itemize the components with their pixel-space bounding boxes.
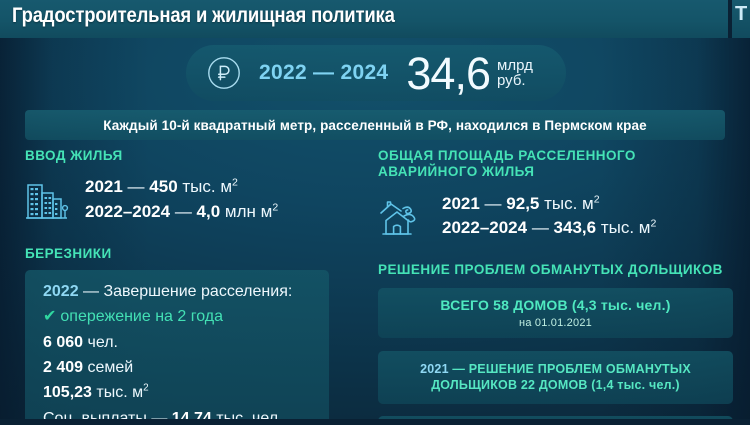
resettled-row-2022-2024: 2022–2024 — 343,6 тыс. м2 bbox=[442, 216, 656, 240]
resettled-row-2022-2024-sup: 2 bbox=[650, 217, 656, 229]
berezniki-stat-area: 105,23 тыс. м2 bbox=[43, 380, 329, 405]
budget-highlight-pill: 2022 — 2024 34,6 млрд руб. bbox=[186, 45, 566, 101]
defrauded-2021-box: 2021 — РЕШЕНИЕ ПРОБЛЕМ ОБМАНУТЫХ ДОЛЬЩИК… bbox=[378, 351, 733, 405]
berezniki-stat-area-value: 105,23 bbox=[43, 384, 92, 401]
city-buildings-icon bbox=[25, 179, 71, 221]
housing-row-2022-2024-sup: 2 bbox=[272, 201, 278, 213]
housing-row-2022-2024-year: 2022–2024 bbox=[85, 202, 170, 221]
resettled-row-2021: 2021 — 92,5 тыс. м2 bbox=[442, 192, 656, 216]
housing-row-2022-2024-dash: — bbox=[170, 202, 196, 221]
adjacent-panel-letter: Т bbox=[735, 3, 747, 26]
housing-row-2021-dash: — bbox=[123, 177, 149, 196]
housing-row-2021-year: 2021 bbox=[85, 177, 123, 196]
berezniki-completion-text: — Завершение расселения: bbox=[79, 283, 293, 300]
berezniki-ahead-line: ✔опережение на 2 года bbox=[43, 304, 329, 329]
housing-row-2021-unit: тыс. м bbox=[178, 177, 232, 196]
defrauded-2021-year: 2021 bbox=[420, 362, 449, 376]
berezniki-stat-area-sup: 2 bbox=[143, 383, 149, 394]
berezniki-stat-families: 2 409 семей bbox=[43, 355, 329, 380]
berezniki-stat-area-label: тыс. м bbox=[92, 384, 143, 401]
resettled-row-2022-2024-dash: — bbox=[527, 218, 553, 237]
resettled-row-2021-year: 2021 bbox=[442, 194, 480, 213]
housing-commissioning-stats: 2021 — 450 тыс. м2 2022–2024 — 4,0 млн м… bbox=[25, 175, 355, 223]
berezniki-completion-year: 2022 bbox=[43, 283, 79, 300]
berezniki-stat-families-value: 2 409 bbox=[43, 359, 83, 376]
defrauded-2021-body: — РЕШЕНИЕ ПРОБЛЕМ ОБМАНУТЫХ ДОЛЬЩИКОВ 22… bbox=[431, 362, 691, 393]
housing-row-2022-2024-unit: млн м bbox=[220, 202, 272, 221]
section-heading-defrauded-investors: РЕШЕНИЕ ПРОБЛЕМ ОБМАНУТЫХ ДОЛЬЩИКОВ bbox=[378, 262, 733, 278]
resettled-row-2022-2024-year: 2022–2024 bbox=[442, 218, 527, 237]
berezniki-ahead-text: опережение на 2 года bbox=[60, 308, 223, 325]
check-icon: ✔ bbox=[43, 304, 56, 329]
slide-root: Градостроительная и жилищная политика Т … bbox=[0, 0, 750, 425]
berezniki-panel: 2022 — Завершение расселения: ✔опережени… bbox=[25, 270, 329, 425]
budget-unit-line2: руб. bbox=[497, 73, 533, 88]
resettled-area-lines: 2021 — 92,5 тыс. м2 2022–2024 — 343,6 ты… bbox=[442, 192, 656, 240]
resettled-row-2021-sup: 2 bbox=[594, 193, 600, 205]
housing-commissioning-lines: 2021 — 450 тыс. м2 2022–2024 — 4,0 млн м… bbox=[85, 175, 278, 223]
defrauded-total-main: ВСЕГО 58 ДОМОВ (4,3 тыс. чел.) bbox=[384, 297, 727, 313]
berezniki-completion-line: 2022 — Завершение расселения: bbox=[43, 279, 329, 304]
left-column: ВВОД ЖИЛЬЯ bbox=[25, 148, 355, 425]
resettled-row-2021-dash: — bbox=[480, 194, 506, 213]
defrauded-2021-text: 2021 — РЕШЕНИЕ ПРОБЛЕМ ОБМАНУТЫХ ДОЛЬЩИК… bbox=[392, 361, 719, 395]
section-heading-resettled-area: ОБЩАЯ ПЛОЩАДЬ РАССЕЛЕННОГО АВАРИЙНОГО ЖИ… bbox=[378, 148, 733, 181]
budget-amount: 34,6 bbox=[406, 51, 490, 96]
right-column: ОБЩАЯ ПЛОЩАДЬ РАССЕЛЕННОГО АВАРИЙНОГО ЖИ… bbox=[378, 148, 733, 425]
budget-unit-line1: млрд bbox=[497, 58, 533, 73]
berezniki-stat-families-label: семей bbox=[83, 359, 133, 376]
damaged-house-icon bbox=[378, 195, 428, 237]
key-fact-banner-text: Каждый 10-й квадратный метр, расселенный… bbox=[103, 118, 646, 133]
page-title: Градостроительная и жилищная политика bbox=[12, 4, 395, 28]
housing-row-2022-2024-value: 4,0 bbox=[197, 202, 221, 221]
bottom-strip bbox=[0, 419, 750, 425]
housing-row-2021-sup: 2 bbox=[232, 177, 238, 189]
ruble-icon bbox=[207, 56, 241, 90]
resettled-row-2022-2024-value: 343,6 bbox=[554, 218, 597, 237]
section-heading-housing-commissioning: ВВОД ЖИЛЬЯ bbox=[25, 148, 355, 164]
adjacent-panel-sliver: Т bbox=[732, 0, 750, 38]
berezniki-stat-people-value: 6 060 bbox=[43, 334, 83, 351]
budget-period: 2022 — 2024 bbox=[259, 61, 388, 85]
resettled-row-2022-2024-unit: тыс. м bbox=[596, 218, 650, 237]
resettled-area-stats: 2021 — 92,5 тыс. м2 2022–2024 — 343,6 ты… bbox=[378, 192, 733, 240]
slide-title-bar: Градостроительная и жилищная политика Т bbox=[0, 0, 750, 38]
housing-row-2021: 2021 — 450 тыс. м2 bbox=[85, 175, 278, 199]
key-fact-banner: Каждый 10-й квадратный метр, расселенный… bbox=[25, 110, 725, 140]
housing-row-2021-value: 450 bbox=[149, 177, 177, 196]
resettled-row-2021-value: 92,5 bbox=[506, 194, 539, 213]
berezniki-stat-people-label: чел. bbox=[83, 334, 118, 351]
budget-unit: млрд руб. bbox=[497, 58, 533, 89]
housing-row-2022-2024: 2022–2024 — 4,0 млн м2 bbox=[85, 200, 278, 224]
section-heading-berezniki: БЕРЕЗНИКИ bbox=[25, 246, 355, 262]
berezniki-stat-people: 6 060 чел. bbox=[43, 330, 329, 355]
defrauded-total-box: ВСЕГО 58 ДОМОВ (4,3 тыс. чел.) на 01.01.… bbox=[378, 288, 733, 338]
resettled-row-2021-unit: тыс. м bbox=[539, 194, 593, 213]
defrauded-total-date: на 01.01.2021 bbox=[384, 317, 727, 329]
